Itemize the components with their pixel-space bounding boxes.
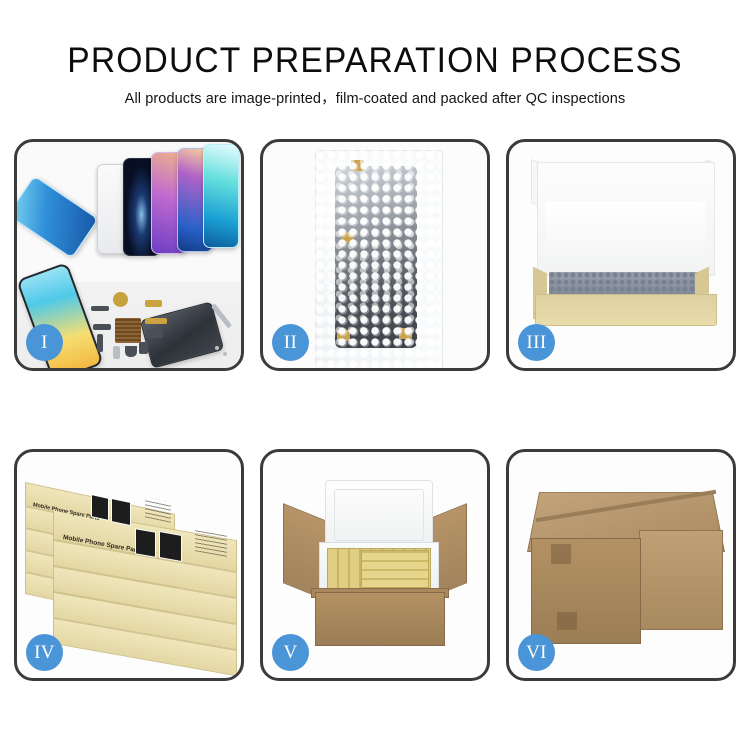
part-speaker-box [125, 346, 137, 357]
page-title: PRODUCT PREPARATION PROCESS [15, 0, 735, 80]
part-ic-array [115, 318, 141, 343]
part-connector-a [93, 324, 111, 330]
box-base-front [535, 294, 717, 326]
part-vibration-motor [139, 342, 148, 354]
carton-tab-lower [557, 612, 577, 630]
phone-display-teal [203, 144, 239, 248]
part-flex-cable-gold [145, 300, 162, 307]
process-step-6[interactable]: VI [506, 449, 736, 681]
product-preparation-infographic: PRODUCT PREPARATION PROCESS All products… [0, 0, 750, 750]
step-badge-4: IV [26, 634, 63, 671]
step-badge-2: II [272, 324, 309, 361]
box-window-front-1 [135, 528, 156, 558]
process-step-2[interactable]: II [260, 139, 490, 371]
carton-front-panel [531, 538, 641, 644]
process-step-5[interactable]: V [260, 449, 490, 681]
carton-side-panel [639, 530, 723, 630]
box-window-front-2 [159, 531, 182, 562]
part-screw-2 [223, 352, 227, 356]
process-step-grid: I II [14, 139, 736, 681]
step-badge-6: VI [518, 634, 555, 671]
step-badge-1: I [26, 324, 63, 361]
part-screw-1 [215, 346, 219, 350]
process-step-4[interactable]: Mobile Phone Spare Parts Mobile Phone Sp… [14, 449, 244, 681]
process-step-3[interactable]: III [506, 139, 736, 371]
foam-liner [545, 202, 705, 274]
process-step-1[interactable]: I [14, 139, 244, 371]
page-subtitle: All products are image-printed，film-coat… [0, 80, 750, 108]
foam-box-lid [325, 480, 433, 550]
step-badge-5: V [272, 634, 309, 671]
yellow-boxes-row-2 [361, 550, 429, 588]
part-connector-b [97, 334, 103, 352]
header: PRODUCT PREPARATION PROCESS All products… [0, 0, 750, 108]
part-flex-cable-long [145, 318, 167, 324]
part-earpiece-mesh [91, 306, 109, 311]
bubble-highlight-texture [315, 150, 441, 368]
part-camera-lens [113, 346, 120, 359]
carton-front-panel [315, 592, 445, 646]
box-window-back-2 [111, 498, 131, 526]
box-window-back-1 [91, 494, 109, 521]
part-speaker-disc [113, 292, 128, 307]
part-module-a [147, 330, 163, 338]
adhesive-film-blue [17, 175, 99, 258]
step-badge-3: III [518, 324, 555, 361]
carton-tab-upper [551, 544, 571, 564]
